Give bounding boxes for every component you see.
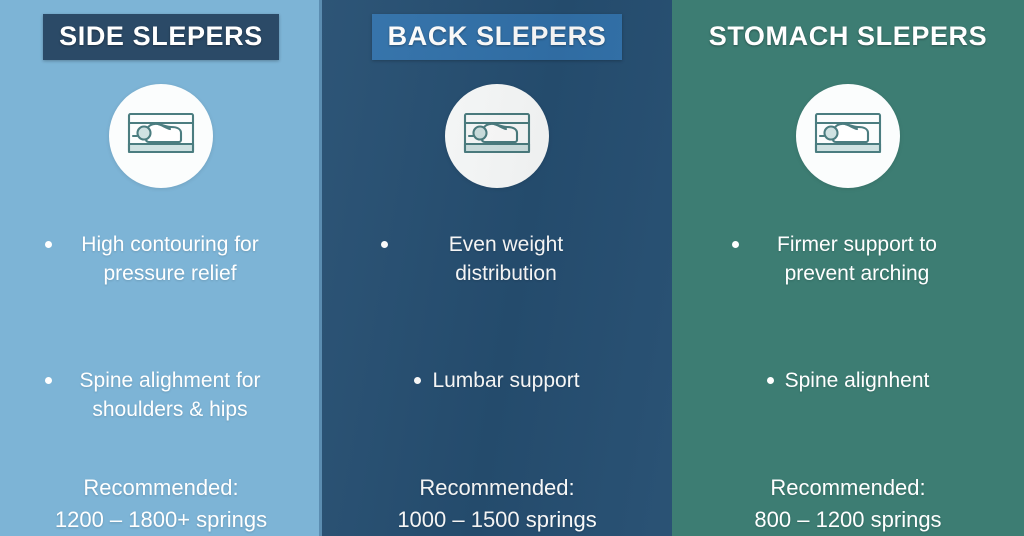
recommended-label: Recommended: <box>322 472 672 504</box>
column-back-sleepers: BACK SLEPERS Even weight distribut <box>322 0 672 536</box>
bullet-dot-icon <box>45 241 52 248</box>
bullet-dot-icon <box>45 377 52 384</box>
recommended-label: Recommended: <box>0 472 322 504</box>
bullet-text: Firmer support to prevent arching <box>750 230 965 288</box>
bullet-item: Spine alighment for shoulders & hips <box>0 366 322 424</box>
bullet-dot-icon <box>414 377 421 384</box>
recommended-springs-back: Recommended: 1000 – 1500 springs <box>322 472 672 536</box>
bullet-text: Even weight distribution <box>399 230 614 288</box>
recommended-label: Recommended: <box>672 472 1024 504</box>
sleeper-on-bed-icon <box>796 84 900 188</box>
bullet-item: Firmer support to prevent arching <box>672 230 1024 288</box>
bullet-dot-icon <box>732 241 739 248</box>
sleeper-on-bed-icon <box>109 84 213 188</box>
recommended-value: 1200 – 1800+ springs <box>0 504 322 536</box>
recommended-springs-side: Recommended: 1200 – 1800+ springs <box>0 472 322 536</box>
bullet-text: High contouring for pressure relief <box>63 230 278 288</box>
bullet-item: Spine alignhent <box>672 366 1024 395</box>
bullet-dot-icon <box>767 377 774 384</box>
column-stomach-sleepers: STOMACH SLEPERS Firmer support to <box>672 0 1024 536</box>
bullet-text: Spine alighment for shoulders & hips <box>63 366 278 424</box>
column-title-stomach: STOMACH SLEPERS <box>693 14 1004 60</box>
bullet-item: Lumbar support <box>322 366 672 395</box>
sleeper-type-infographic: SIDE SLEPERS High contouring for p <box>0 0 1024 536</box>
recommended-value: 800 – 1200 springs <box>672 504 1024 536</box>
column-title-back: BACK SLEPERS <box>372 14 623 60</box>
bullet-text: Spine alignhent <box>785 366 930 395</box>
bullet-item: Even weight distribution <box>322 230 672 288</box>
bullet-list-stomach: Firmer support to prevent arching Spine … <box>672 230 1024 472</box>
column-header-back: BACK SLEPERS <box>372 14 623 60</box>
column-side-sleepers: SIDE SLEPERS High contouring for p <box>0 0 322 536</box>
bullet-text: Lumbar support <box>432 366 579 395</box>
bullet-dot-icon <box>381 241 388 248</box>
bullet-list-back: Even weight distribution Lumbar support <box>322 230 672 472</box>
column-header-stomach: STOMACH SLEPERS <box>693 14 1004 60</box>
sleeper-on-bed-icon <box>445 84 549 188</box>
column-header-side: SIDE SLEPERS <box>43 14 279 60</box>
recommended-value: 1000 – 1500 springs <box>322 504 672 536</box>
bullet-list-side: High contouring for pressure relief Spin… <box>0 230 322 472</box>
bullet-item: High contouring for pressure relief <box>0 230 322 288</box>
recommended-springs-stomach: Recommended: 800 – 1200 springs <box>672 472 1024 536</box>
column-title-side: SIDE SLEPERS <box>43 14 279 60</box>
